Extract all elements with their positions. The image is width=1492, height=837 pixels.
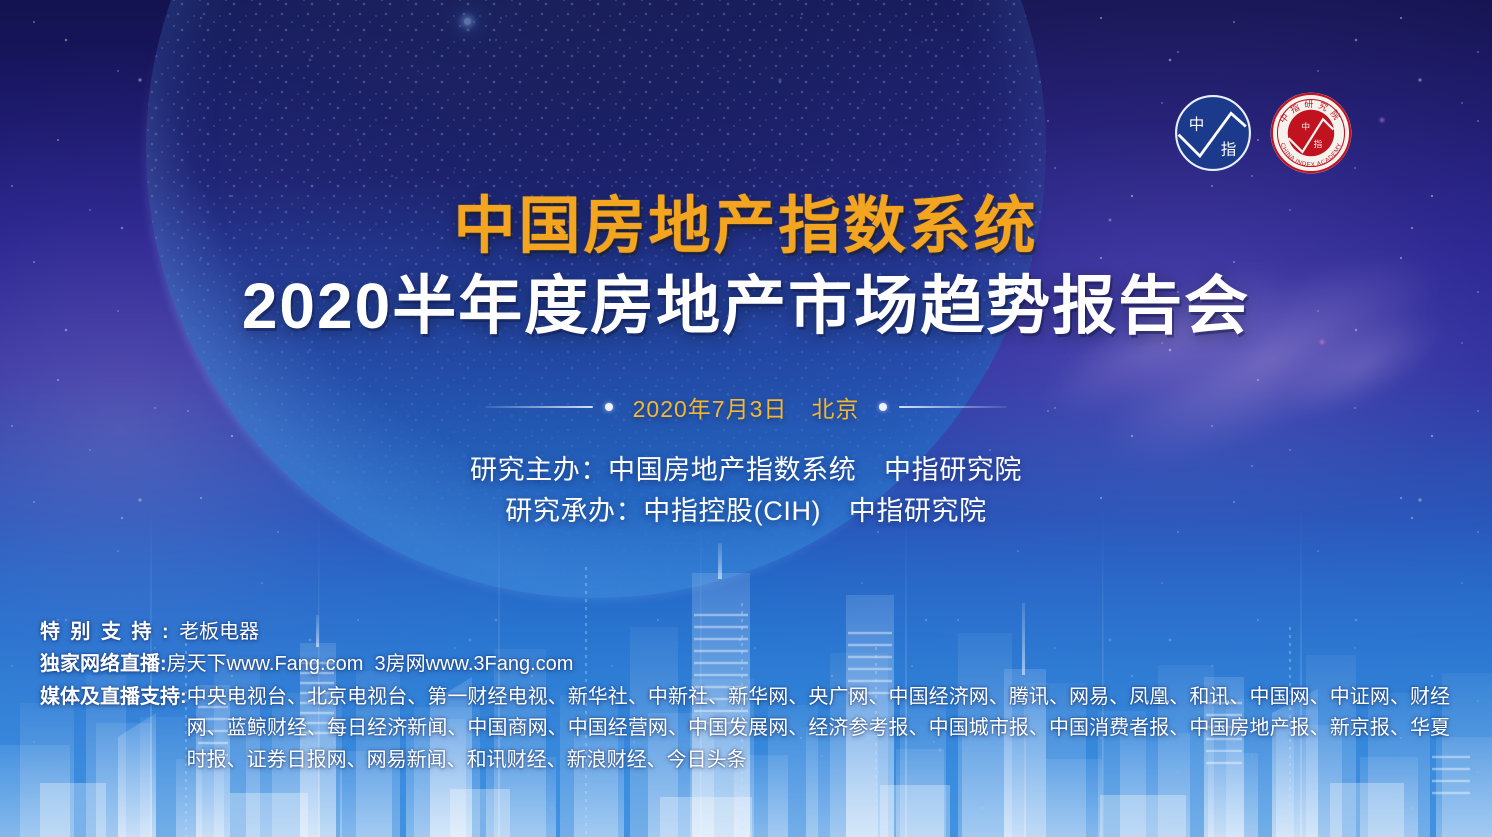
headline-block: 中国房地产指数系统 2020半年度房地产市场趋势报告会 [0, 196, 1492, 339]
nebula-dot-violet [1380, 118, 1384, 122]
organizer-host: 研究主办：中国房地产指数系统 中指研究院 [0, 450, 1492, 491]
credit-row-special-support: 特别支持: 老板电器 [40, 617, 1450, 647]
credit-value-special-support: 老板电器 [179, 617, 1450, 647]
dateline-dot-left [605, 403, 613, 411]
skyline-near [40, 783, 1404, 837]
zhizhi-logo-char-bottom: 指 [1221, 140, 1237, 158]
logo-group: 中 指 中指研究院 CHINA INDEX ACADEMY 中 指 [1172, 90, 1354, 176]
credit-value-media-support: 中央电视台、北京电视台、第一财经电视、新华社、中新社、新华网、央广网、中国经济网… [187, 682, 1450, 777]
china-index-academy-seal: 中指研究院 CHINA INDEX ACADEMY 中 指 [1268, 90, 1354, 176]
credit-row-media-support: 媒体及直播支持: 中央电视台、北京电视台、第一财经电视、新华社、中新社、新华网、… [40, 682, 1450, 777]
credit-row-livestream: 独家网络直播: 房天下www.Fang.com 3房网www.3Fang.com [40, 649, 1450, 679]
page-title-main: 中国房地产指数系统 [0, 196, 1492, 258]
credit-label-media-support: 媒体及直播支持: [40, 682, 187, 712]
organizer-block: 研究主办：中国房地产指数系统 中指研究院 研究承办：中指控股(CIH) 中指研究… [0, 450, 1492, 532]
nebula-dot-magenta [1320, 340, 1324, 344]
credit-label-special-support: 特别支持: [40, 617, 179, 647]
poster-canvas: 中 指 中指研究院 CHINA INDEX ACADEMY 中 指 中国 [0, 0, 1492, 837]
dateline-rule-left [485, 406, 593, 408]
bright-star [464, 18, 471, 25]
credits-block: 特别支持: 老板电器 独家网络直播: 房天下www.Fang.com 3房网ww… [40, 617, 1450, 779]
seal-char-top: 中 [1302, 121, 1311, 132]
dateline-dot-right [879, 403, 887, 411]
credit-label-livestream: 独家网络直播: [40, 649, 167, 679]
dateline: 2020年7月3日 北京 [0, 390, 1492, 424]
seal-char-bottom: 指 [1314, 138, 1323, 149]
zhizhi-logo: 中 指 [1172, 92, 1254, 174]
credit-value-livestream: 房天下www.Fang.com 3房网www.3Fang.com [167, 649, 1450, 679]
dateline-rule-right [899, 406, 1007, 408]
page-title-sub: 2020半年度房地产市场趋势报告会 [0, 274, 1492, 339]
organizer-undertaker: 研究承办：中指控股(CIH) 中指研究院 [0, 491, 1492, 532]
event-date-location: 2020年7月3日 北京 [625, 390, 868, 424]
zhizhi-logo-char-top: 中 [1189, 116, 1205, 134]
